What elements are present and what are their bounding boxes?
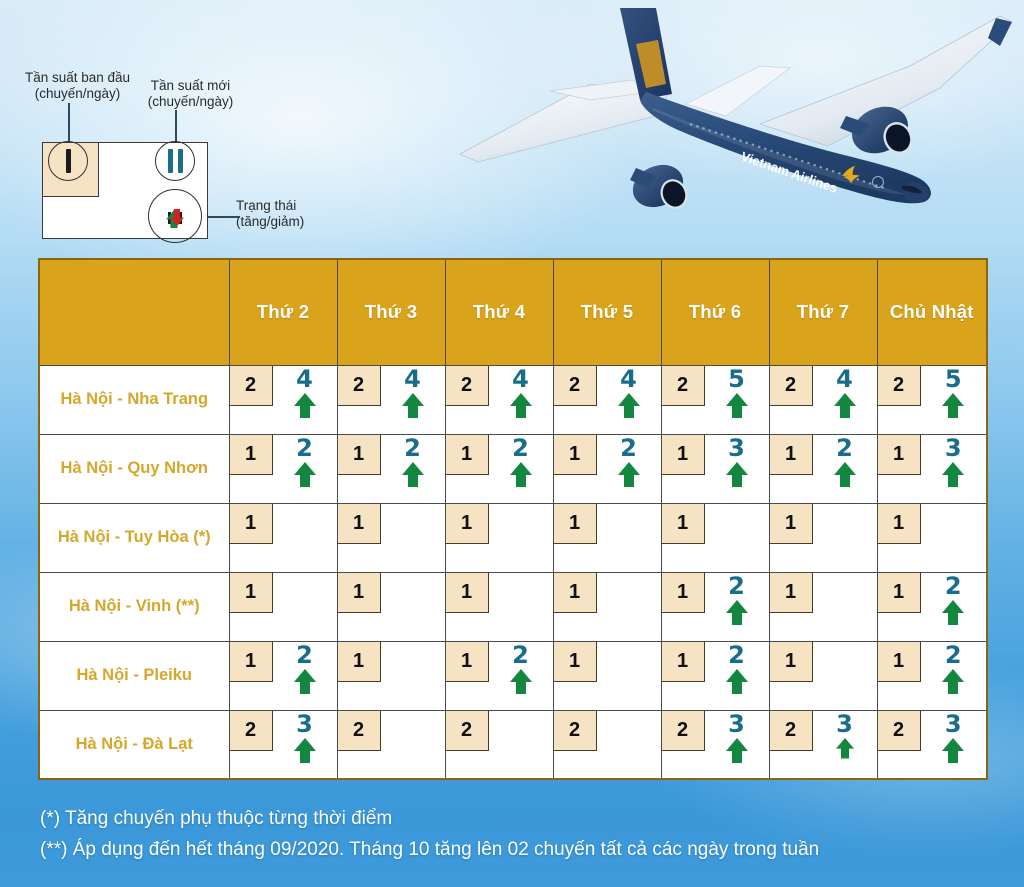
table-row: Hà Nội - Quy Nhơn12121212131213 — [39, 434, 987, 503]
new-frequency-group: 4 — [489, 366, 553, 393]
new-frequency-value: 2 — [404, 436, 421, 460]
new-frequency-group — [489, 573, 553, 574]
new-frequency-group: 5 — [921, 366, 987, 393]
new-frequency-value: 2 — [620, 436, 637, 460]
new-frequency-group — [381, 573, 445, 574]
original-frequency-box: 2 — [554, 711, 597, 751]
frequency-cell: 23 — [229, 710, 337, 779]
table-row: Hà Nội - Vinh (**)111112112 — [39, 572, 987, 641]
original-frequency-box: 2 — [662, 711, 705, 751]
frequency-cell: 12 — [229, 434, 337, 503]
column-header-sat: Thứ 7 — [769, 259, 877, 365]
original-frequency-box: 1 — [878, 504, 921, 544]
footnote-2: (**) Áp dụng đến hết tháng 09/2020. Thán… — [40, 834, 1000, 865]
column-header-wed: Thứ 4 — [445, 259, 553, 365]
new-frequency-group — [273, 573, 337, 574]
new-frequency-group: 4 — [381, 366, 445, 393]
legend-status-label: Trạng thái (tăng/giảm) — [236, 198, 356, 230]
new-frequency-group — [381, 711, 445, 712]
frequency-cell: 12 — [661, 641, 769, 710]
legend-status-unit: (tăng/giảm) — [236, 214, 356, 230]
original-frequency-box: 2 — [230, 366, 273, 406]
frequency-cell: 2 — [337, 710, 445, 779]
original-frequency-box: 1 — [446, 573, 489, 613]
original-frequency-box: 1 — [338, 573, 381, 613]
column-header-tue: Thứ 3 — [337, 259, 445, 365]
new-frequency-group: 3 — [705, 711, 769, 738]
new-frequency-group: 2 — [381, 435, 445, 462]
table-row: Hà Nội - Tuy Hòa (*)1111111 — [39, 503, 987, 572]
new-frequency-group: 2 — [705, 573, 769, 600]
new-frequency-value: 2 — [296, 643, 313, 667]
table-body: Hà Nội - Nha Trang24242424252425Hà Nội -… — [39, 365, 987, 779]
legend-new-unit: (chuyến/ngày) — [128, 94, 253, 110]
original-frequency-box: 2 — [662, 366, 705, 406]
frequency-table: Thứ 2 Thứ 3 Thứ 4 Thứ 5 Thứ 6 Thứ 7 Chủ … — [38, 258, 988, 780]
new-frequency-value: 5 — [945, 367, 962, 391]
original-frequency-box: 1 — [446, 504, 489, 544]
column-header-thu: Thứ 5 — [553, 259, 661, 365]
original-frequency-box: 1 — [770, 642, 813, 682]
new-frequency-group — [813, 642, 877, 643]
frequency-cell: 1 — [229, 572, 337, 641]
aircraft-photo: Vietnam Airlines — [440, 0, 1024, 246]
original-frequency-box: 1 — [230, 642, 273, 682]
original-frequency-box: 2 — [338, 711, 381, 751]
original-frequency-box: 1 — [446, 435, 489, 475]
frequency-cell: 23 — [661, 710, 769, 779]
legend-original-label: Tần suất ban đầu (chuyến/ngày) — [10, 70, 145, 102]
frequency-cell: 24 — [229, 365, 337, 434]
original-frequency-box: 1 — [662, 642, 705, 682]
frequency-cell: 24 — [769, 365, 877, 434]
footnote-1: (*) Tăng chuyến phụ thuộc từng thời điểm — [40, 803, 1000, 834]
frequency-cell: 12 — [337, 434, 445, 503]
legend-marker-one-circle — [48, 141, 88, 181]
frequency-cell: 1 — [445, 572, 553, 641]
frequency-cell: 13 — [877, 434, 987, 503]
new-frequency-group: 2 — [489, 642, 553, 669]
route-label: Hà Nội - Pleiku — [39, 641, 229, 710]
frequency-cell: 23 — [877, 710, 987, 779]
new-frequency-group — [597, 504, 661, 505]
frequency-cell: 2 — [445, 710, 553, 779]
legend-original-title: Tần suất ban đầu — [25, 70, 130, 85]
new-frequency-group — [921, 504, 987, 505]
original-frequency-box: 1 — [338, 642, 381, 682]
original-frequency-box: 1 — [230, 435, 273, 475]
frequency-cell: 1 — [337, 572, 445, 641]
table-corner-header — [39, 259, 229, 365]
new-frequency-group — [489, 711, 553, 712]
legend-marker-three-circle — [148, 189, 202, 243]
new-frequency-value: 3 — [945, 712, 962, 736]
new-frequency-value: 5 — [728, 367, 745, 391]
new-frequency-value: 3 — [945, 436, 962, 460]
original-frequency-box: 1 — [770, 504, 813, 544]
new-frequency-group: 3 — [273, 711, 337, 738]
legend-bar-two-icon — [168, 149, 183, 173]
original-frequency-box: 1 — [230, 573, 273, 613]
new-frequency-group — [813, 504, 877, 505]
new-frequency-value: 2 — [728, 574, 745, 598]
new-frequency-value: 2 — [728, 643, 745, 667]
new-frequency-value: 2 — [836, 436, 853, 460]
new-frequency-group — [489, 504, 553, 505]
table-header-row: Thứ 2 Thứ 3 Thứ 4 Thứ 5 Thứ 6 Thứ 7 Chủ … — [39, 259, 987, 365]
column-header-sun: Chủ Nhật — [877, 259, 987, 365]
new-frequency-group: 2 — [921, 642, 987, 669]
table-row: Hà Nội - Pleiku12112112112 — [39, 641, 987, 710]
new-frequency-group: 2 — [597, 435, 661, 462]
frequency-cell: 24 — [553, 365, 661, 434]
frequency-cell: 1 — [877, 503, 987, 572]
frequency-cell: 1 — [769, 503, 877, 572]
original-frequency-box: 1 — [770, 435, 813, 475]
original-frequency-box: 2 — [770, 366, 813, 406]
frequency-cell: 1 — [769, 641, 877, 710]
new-frequency-value: 4 — [512, 367, 529, 391]
legend-new-label: Tần suất mới (chuyến/ngày) — [128, 78, 253, 110]
frequency-cell: 13 — [661, 434, 769, 503]
frequency-cell: 12 — [877, 572, 987, 641]
original-frequency-box: 1 — [878, 642, 921, 682]
frequency-cell: 1 — [553, 503, 661, 572]
new-frequency-group: 2 — [921, 573, 987, 600]
original-frequency-box: 1 — [878, 435, 921, 475]
legend-bar-one-icon — [66, 149, 71, 173]
frequency-cell: 1 — [445, 503, 553, 572]
new-frequency-group — [597, 711, 661, 712]
frequency-cell: 25 — [661, 365, 769, 434]
new-frequency-group — [381, 642, 445, 643]
new-frequency-group: 3 — [813, 711, 877, 738]
infographic-page: Tần suất ban đầu (chuyến/ngày) Tần suất … — [0, 0, 1024, 887]
new-frequency-value: 4 — [836, 367, 853, 391]
original-frequency-box: 1 — [338, 435, 381, 475]
frequency-cell: 1 — [661, 503, 769, 572]
new-frequency-group — [381, 504, 445, 505]
new-frequency-group: 4 — [273, 366, 337, 393]
new-frequency-group: 4 — [597, 366, 661, 393]
original-frequency-box: 1 — [662, 573, 705, 613]
new-frequency-value: 4 — [404, 367, 421, 391]
new-frequency-value: 4 — [620, 367, 637, 391]
original-frequency-box: 2 — [878, 711, 921, 751]
new-frequency-value: 2 — [945, 574, 962, 598]
new-frequency-value: 4 — [296, 367, 313, 391]
new-frequency-group: 2 — [705, 642, 769, 669]
new-frequency-group: 2 — [489, 435, 553, 462]
legend-original-unit: (chuyến/ngày) — [10, 86, 145, 102]
frequency-cell: 12 — [553, 434, 661, 503]
new-frequency-group: 3 — [921, 435, 987, 462]
new-frequency-group — [813, 573, 877, 574]
original-frequency-box: 2 — [554, 366, 597, 406]
original-frequency-box: 1 — [554, 435, 597, 475]
original-frequency-box: 1 — [770, 573, 813, 613]
new-frequency-group — [273, 504, 337, 505]
new-frequency-group — [597, 573, 661, 574]
new-frequency-group: 5 — [705, 366, 769, 393]
new-frequency-group — [705, 504, 769, 505]
route-label: Hà Nội - Vinh (**) — [39, 572, 229, 641]
original-frequency-box: 2 — [338, 366, 381, 406]
footnotes: (*) Tăng chuyến phụ thuộc từng thời điểm… — [40, 803, 1000, 865]
route-label: Hà Nội - Tuy Hòa (*) — [39, 503, 229, 572]
original-frequency-box: 2 — [878, 366, 921, 406]
new-frequency-value: 3 — [728, 712, 745, 736]
frequency-cell: 25 — [877, 365, 987, 434]
original-frequency-box: 1 — [554, 573, 597, 613]
new-frequency-value: 2 — [296, 436, 313, 460]
frequency-cell: 1 — [769, 572, 877, 641]
route-label: Hà Nội - Đà Lạt — [39, 710, 229, 779]
frequency-cell: 1 — [553, 641, 661, 710]
new-frequency-value: 2 — [512, 643, 529, 667]
original-frequency-box: 2 — [230, 711, 273, 751]
legend-marker-two-circle — [155, 141, 195, 181]
original-frequency-box: 2 — [446, 366, 489, 406]
original-frequency-box: 1 — [662, 504, 705, 544]
original-frequency-box: 1 — [662, 435, 705, 475]
new-frequency-group: 3 — [705, 435, 769, 462]
frequency-cell: 12 — [445, 641, 553, 710]
legend-panel: Tần suất ban đầu (chuyến/ngày) Tần suất … — [0, 0, 400, 256]
new-frequency-group: 4 — [813, 366, 877, 393]
new-frequency-value: 3 — [836, 712, 853, 736]
new-frequency-group: 2 — [273, 435, 337, 462]
original-frequency-box: 1 — [446, 642, 489, 682]
frequency-cell: 12 — [769, 434, 877, 503]
frequency-cell: 12 — [229, 641, 337, 710]
new-frequency-value: 2 — [512, 436, 529, 460]
original-frequency-box: 1 — [554, 504, 597, 544]
frequency-cell: 1 — [337, 641, 445, 710]
original-frequency-box: 1 — [878, 573, 921, 613]
frequency-cell: 24 — [337, 365, 445, 434]
new-frequency-group: 2 — [273, 642, 337, 669]
new-frequency-group — [597, 642, 661, 643]
new-frequency-value: 3 — [296, 712, 313, 736]
route-label: Hà Nội - Nha Trang — [39, 365, 229, 434]
table-row: Hà Nội - Đà Lạt23222232323 — [39, 710, 987, 779]
legend-new-title: Tần suất mới — [151, 78, 230, 93]
frequency-cell: 1 — [229, 503, 337, 572]
original-frequency-box: 1 — [338, 504, 381, 544]
new-frequency-group: 2 — [813, 435, 877, 462]
original-frequency-box: 2 — [446, 711, 489, 751]
original-frequency-box: 1 — [230, 504, 273, 544]
table-row: Hà Nội - Nha Trang24242424252425 — [39, 365, 987, 434]
new-frequency-value: 3 — [728, 436, 745, 460]
frequency-cell: 12 — [445, 434, 553, 503]
original-frequency-box: 1 — [554, 642, 597, 682]
frequency-cell: 12 — [877, 641, 987, 710]
frequency-cell: 2 — [553, 710, 661, 779]
column-header-fri: Thứ 6 — [661, 259, 769, 365]
frequency-cell: 12 — [661, 572, 769, 641]
column-header-mon: Thứ 2 — [229, 259, 337, 365]
original-frequency-box: 2 — [770, 711, 813, 751]
legend-trend-icons — [168, 208, 182, 224]
new-frequency-value: 2 — [945, 643, 962, 667]
frequency-cell: 24 — [445, 365, 553, 434]
frequency-cell: 1 — [337, 503, 445, 572]
frequency-cell: 1 — [553, 572, 661, 641]
legend-status-title: Trạng thái — [236, 198, 296, 213]
new-frequency-group: 3 — [921, 711, 987, 738]
route-label: Hà Nội - Quy Nhơn — [39, 434, 229, 503]
frequency-cell: 23 — [769, 710, 877, 779]
